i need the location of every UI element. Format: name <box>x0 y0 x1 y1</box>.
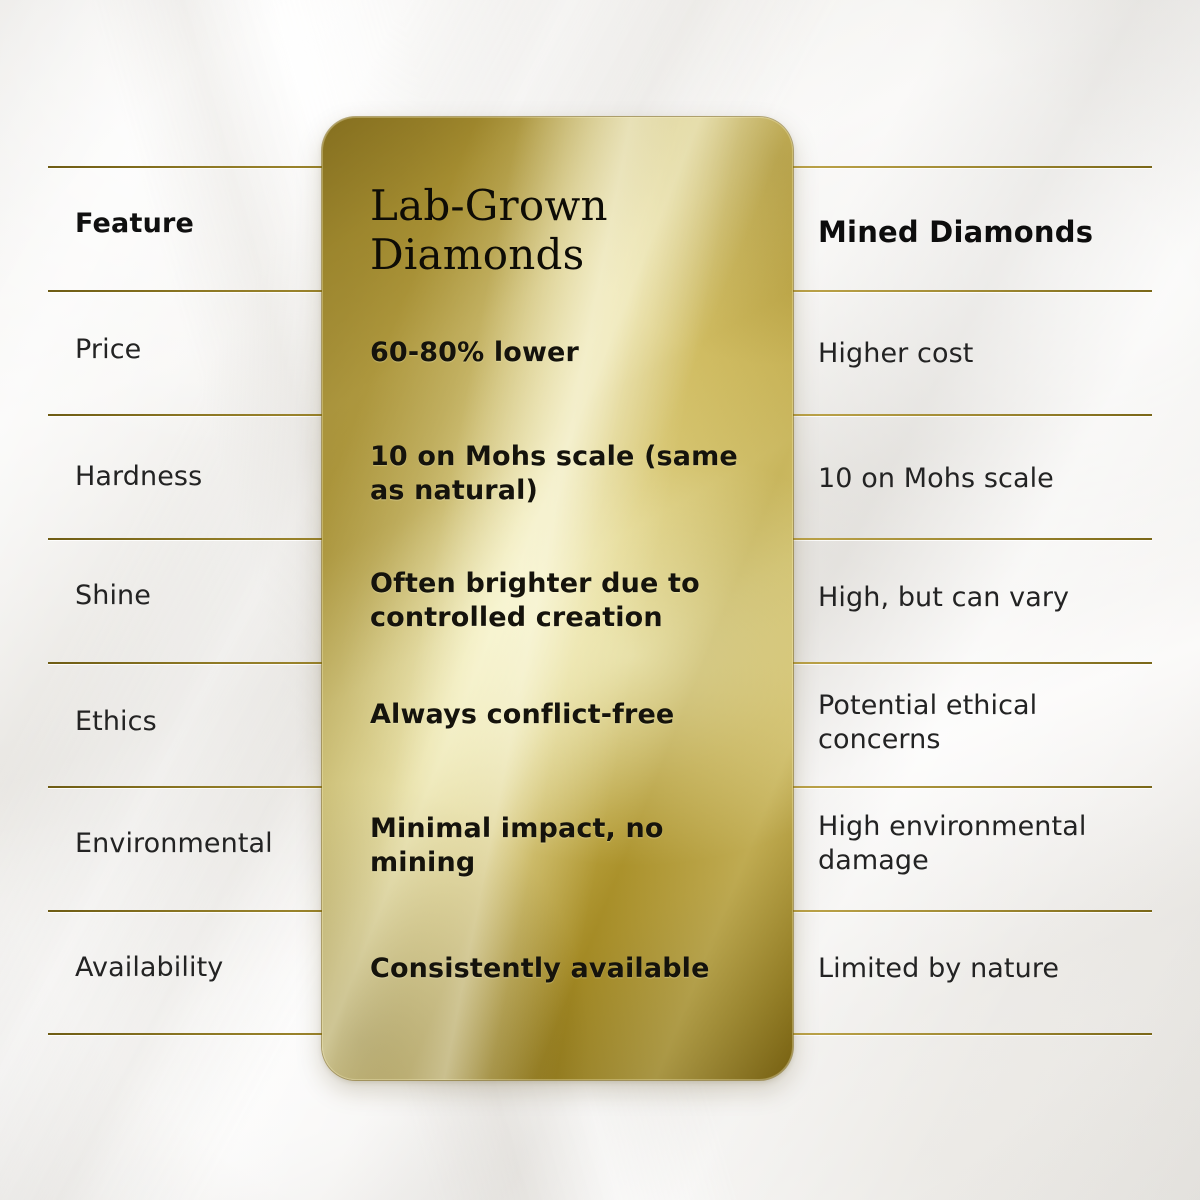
lab-value-price: 60-80% lower <box>370 336 762 370</box>
lab-value-environmental: Minimal impact, no mining <box>370 812 762 881</box>
feature-label-environmental: Environmental <box>75 828 310 861</box>
mined-value-shine: High, but can vary <box>818 581 1148 615</box>
lab-grown-diamonds-card: Lab-GrownDiamonds 60-80% lower 10 on Moh… <box>322 117 793 1080</box>
mined-value-hardness: 10 on Mohs scale <box>818 462 1148 496</box>
feature-label-price: Price <box>75 334 310 367</box>
lab-value-hardness: 10 on Mohs scale (same as natural) <box>370 440 762 509</box>
feature-label-ethics: Ethics <box>75 706 310 739</box>
lab-value-availability: Consistently available <box>370 952 762 986</box>
lab-value-ethics: Always conflict-free <box>370 698 762 732</box>
feature-label-shine: Shine <box>75 580 310 613</box>
feature-label-availability: Availability <box>75 952 310 985</box>
comparison-table: Feature Price Hardness Shine Ethics Envi… <box>0 0 1200 1200</box>
mined-value-environmental: High environmental damage <box>818 810 1148 878</box>
mined-value-availability: Limited by nature <box>818 952 1148 986</box>
mined-value-ethics: Potential ethical concerns <box>818 689 1148 757</box>
feature-label-hardness: Hardness <box>75 461 310 494</box>
column-header-mined-diamonds: Mined Diamonds <box>818 214 1148 251</box>
column-header-lab-grown-diamonds: Lab-GrownDiamonds <box>370 182 762 279</box>
lab-value-shine: Often brighter due to controlled creatio… <box>370 567 762 636</box>
column-header-feature: Feature <box>75 208 310 241</box>
mined-value-price: Higher cost <box>818 337 1148 371</box>
